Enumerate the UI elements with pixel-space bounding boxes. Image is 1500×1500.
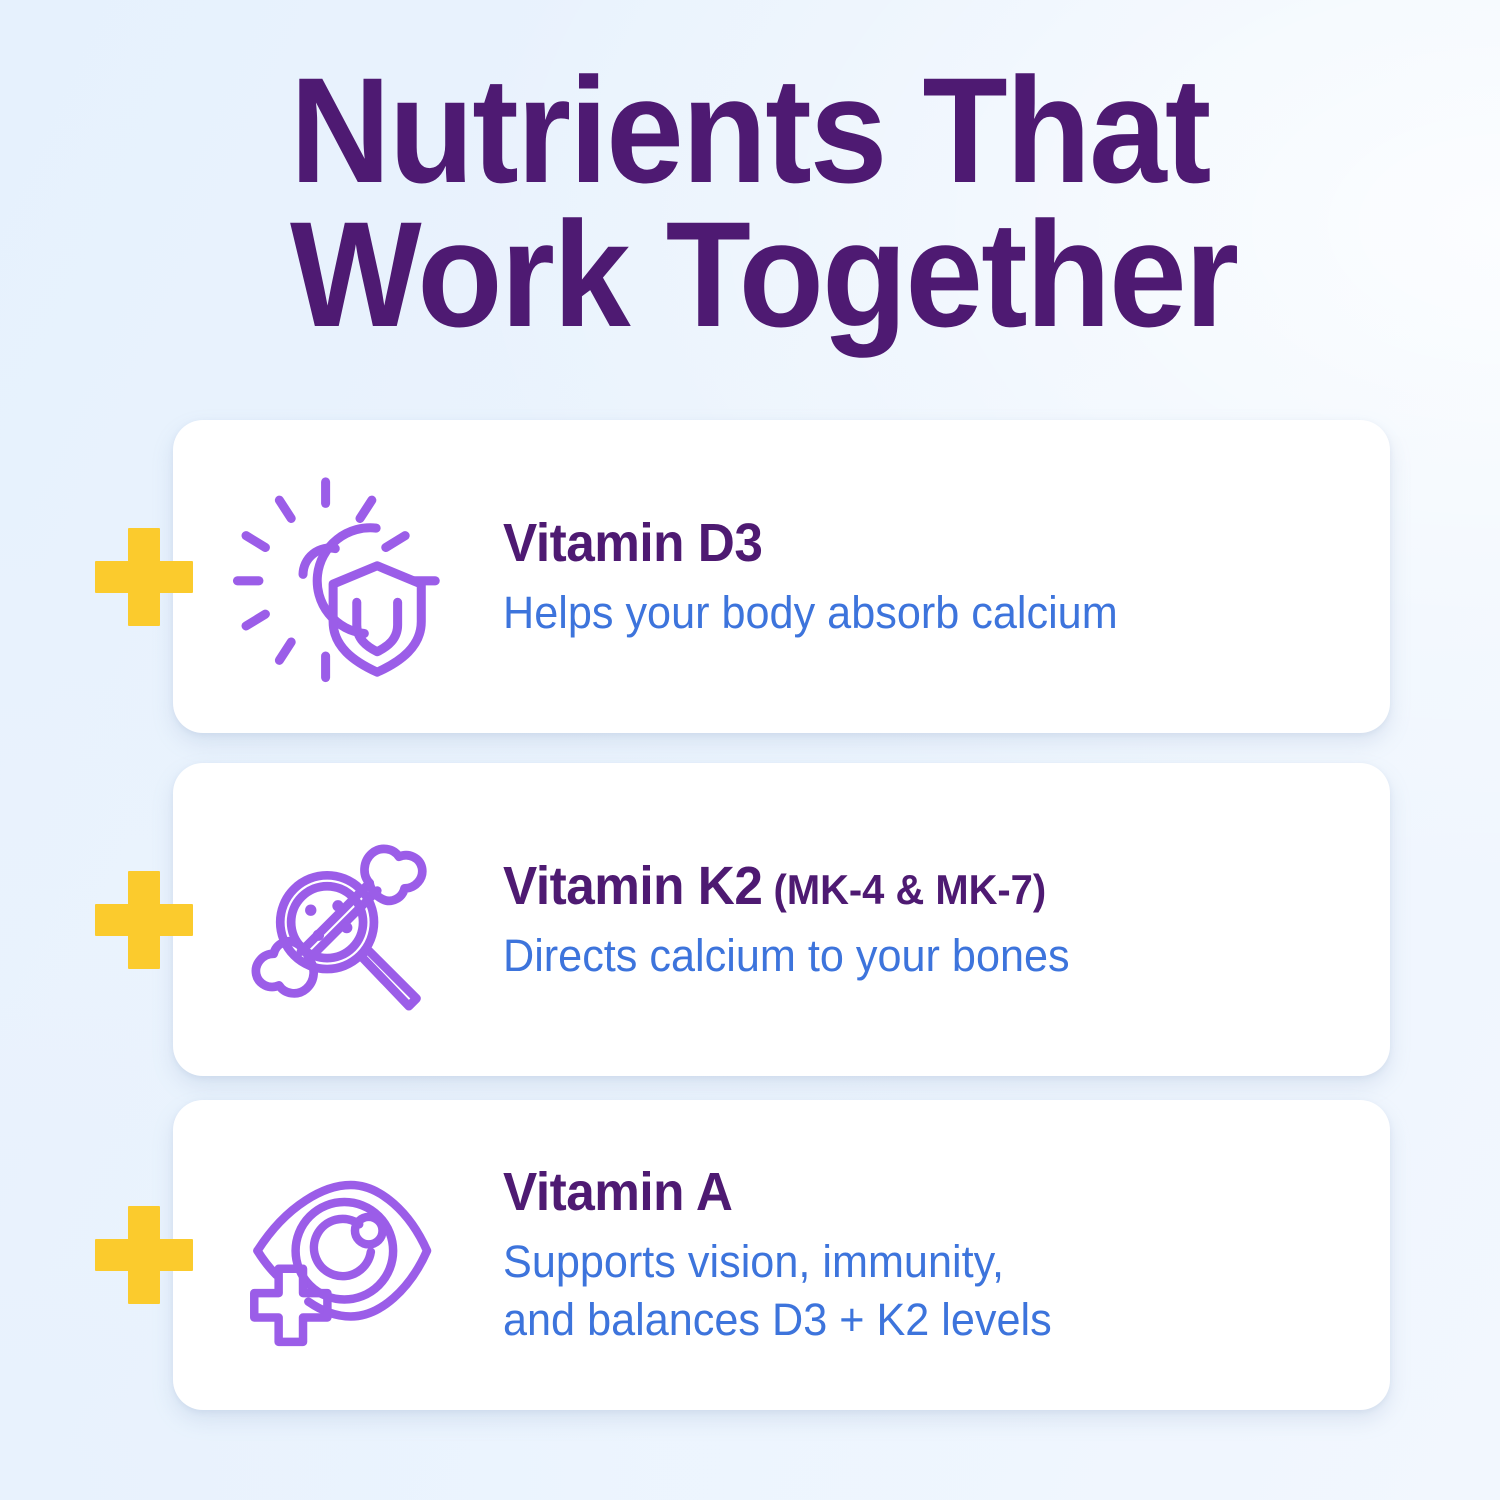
nutrient-title: Vitamin K2 (MK-4 & MK-7): [503, 855, 1308, 921]
nutrient-text: Vitamin D3 Helps your body absorb calciu…: [503, 512, 1390, 642]
plus-accent-icon: [95, 528, 193, 626]
nutrient-title-main: Vitamin K2: [503, 856, 762, 916]
infographic-root: Nutrients That Work Together: [0, 0, 1500, 1500]
nutrient-card: Vitamin A Supports vision, immunity, and…: [173, 1100, 1390, 1410]
plus-bar-vertical: [128, 1206, 160, 1304]
plus-accent-icon: [95, 1206, 193, 1304]
plus-bar-vertical: [128, 871, 160, 969]
page-title-line-2: Work Together: [290, 202, 1341, 346]
plus-bar-vertical: [128, 528, 160, 626]
nutrient-card: Vitamin K2 (MK-4 & MK-7) Directs calcium…: [173, 763, 1390, 1076]
nutrient-description: Directs calcium to your bones: [503, 927, 1316, 985]
nutrient-title-main: Vitamin D3: [503, 513, 762, 573]
plus-accent-icon: [95, 871, 193, 969]
nutrient-title: Vitamin A: [503, 1161, 1308, 1227]
sun-shield-icon: [173, 469, 503, 684]
nutrient-title-suffix: (MK-4 & MK-7): [762, 866, 1046, 913]
nutrient-title-main: Vitamin A: [503, 1162, 732, 1222]
page-title-line-1: Nutrients That: [290, 58, 1341, 202]
nutrient-title: Vitamin D3: [503, 512, 1308, 578]
nutrient-text: Vitamin K2 (MK-4 & MK-7) Directs calcium…: [503, 855, 1390, 985]
nutrient-text: Vitamin A Supports vision, immunity, and…: [503, 1161, 1390, 1349]
nutrient-card: Vitamin D3 Helps your body absorb calciu…: [173, 420, 1390, 733]
page-title: Nutrients That Work Together: [290, 58, 1420, 346]
nutrient-description: Supports vision, immunity, and balances …: [503, 1233, 1316, 1349]
eye-cross-icon: [173, 1149, 503, 1361]
bone-magnifier-icon: [173, 811, 503, 1029]
nutrient-description: Helps your body absorb calcium: [503, 584, 1316, 642]
